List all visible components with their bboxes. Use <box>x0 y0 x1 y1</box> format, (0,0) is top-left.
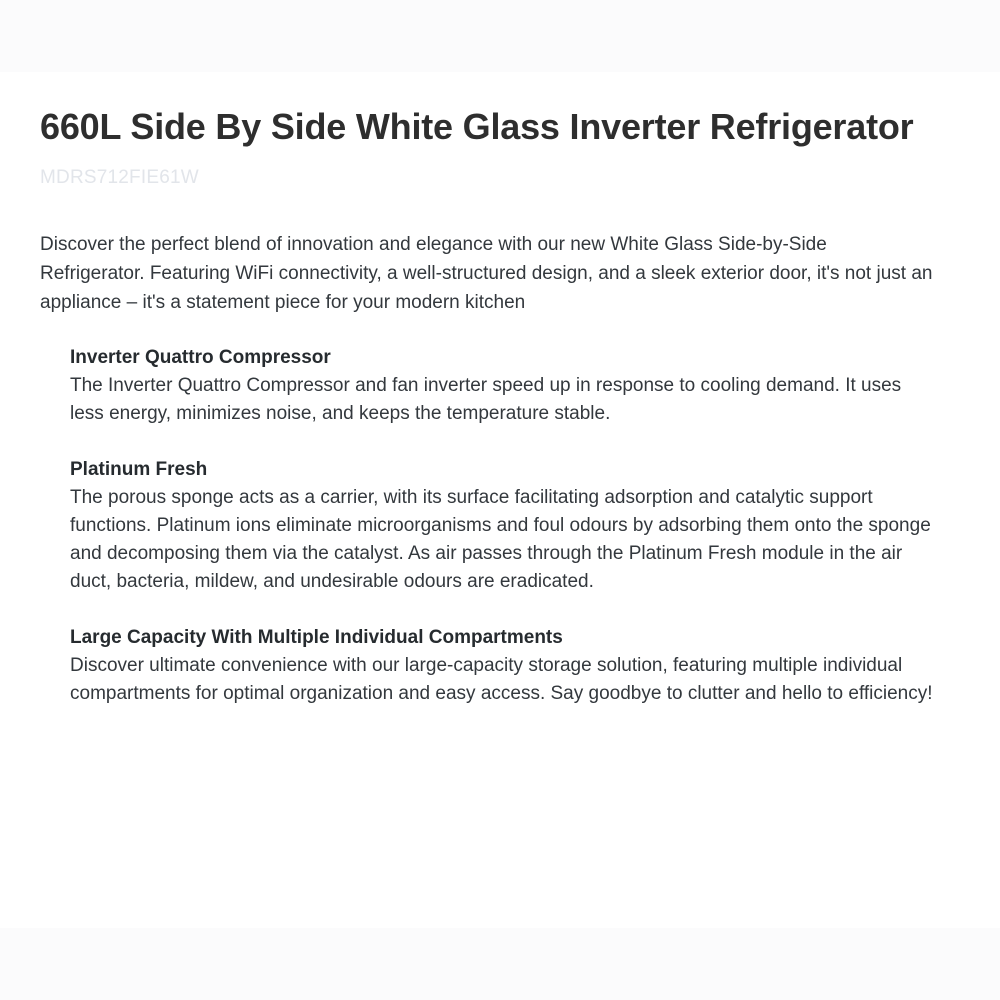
product-intro-paragraph: Discover the perfect blend of innovation… <box>40 230 936 317</box>
description-content: 660L Side By Side White Glass Inverter R… <box>0 72 1000 928</box>
product-sku: MDRS712FIE61W <box>40 166 936 190</box>
feature-title: Inverter Quattro Compressor <box>70 344 936 372</box>
list-item: Inverter Quattro Compressor The Inverter… <box>70 344 936 428</box>
bottom-spacer-band <box>0 928 1000 1000</box>
feature-body: The porous sponge acts as a carrier, wit… <box>70 484 936 596</box>
page-title: 660L Side By Side White Glass Inverter R… <box>40 96 920 157</box>
feature-title: Large Capacity With Multiple Individual … <box>70 624 936 652</box>
feature-title: Platinum Fresh <box>70 456 936 484</box>
feature-body: Discover ultimate convenience with our l… <box>70 652 936 708</box>
product-description-page: 660L Side By Side White Glass Inverter R… <box>0 0 1000 1000</box>
feature-list: Inverter Quattro Compressor The Inverter… <box>40 344 936 708</box>
list-item: Platinum Fresh The porous sponge acts as… <box>70 456 936 596</box>
list-item: Large Capacity With Multiple Individual … <box>70 624 936 708</box>
top-spacer-band <box>0 0 1000 72</box>
feature-body: The Inverter Quattro Compressor and fan … <box>70 372 936 428</box>
